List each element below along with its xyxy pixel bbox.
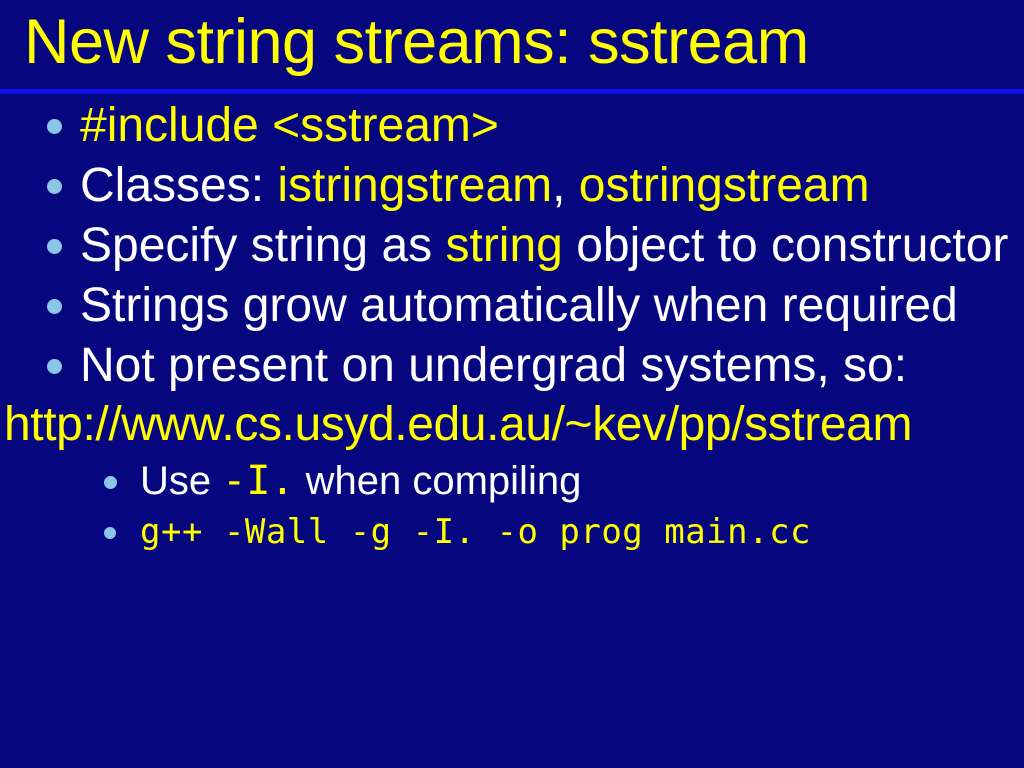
- title-divider: [0, 89, 1024, 94]
- sub-bullet-text: Use -I. when compiling: [140, 459, 581, 503]
- bullet-item: Specify string as string object to const…: [0, 216, 1024, 276]
- page-title: New string streams: sstream: [24, 0, 809, 86]
- slide-canvas: New string streams: sstream #include <ss…: [0, 0, 1024, 768]
- bullet-marker-icon: [47, 179, 62, 194]
- bullet-text: Specify string as string object to const…: [80, 219, 1008, 272]
- bullet-segment-class-istringstream: istringstream: [277, 159, 552, 212]
- bullet-marker-icon: [47, 239, 62, 254]
- slide-body: #include <sstream> Classes: istringstrea…: [0, 96, 1024, 768]
- reference-url[interactable]: http://www.cs.usyd.edu.au/~kev/pp/sstrea…: [0, 396, 1024, 454]
- bullet-item: Not present on undergrad systems, so:: [0, 336, 1024, 396]
- bullet-item: Classes: istringstream, ostringstream: [0, 156, 1024, 216]
- bullet-segment-label: Classes:: [80, 159, 277, 212]
- bullet-segment-code: #include <sstream>: [80, 99, 499, 152]
- bullet-text: Classes: istringstream, ostringstream: [80, 159, 870, 212]
- sub-bullet-segment-tail: when compiling: [295, 459, 582, 503]
- bullet-item: Strings grow automatically when required: [0, 276, 1024, 336]
- bullet-segment-type-string: string: [445, 219, 562, 272]
- sub-bullet-item: Use -I. when compiling: [0, 454, 1024, 508]
- bullet-text: #include <sstream>: [80, 99, 499, 152]
- bullet-marker-icon: [47, 119, 62, 134]
- sub-bullet-segment-lead: Use: [140, 459, 222, 503]
- bullet-segment-tail: object to constructor: [563, 219, 1009, 272]
- bullet-item: #include <sstream>: [0, 96, 1024, 156]
- bullet-text: Strings grow automatically when required: [80, 279, 958, 332]
- bullet-marker-icon: [104, 476, 117, 489]
- compile-command: g++ -Wall -g -I. -o prog main.cc: [140, 512, 811, 552]
- bullet-text: Not present on undergrad systems, so:: [80, 339, 907, 392]
- bullet-segment-separator: ,: [552, 159, 579, 212]
- bullet-segment-lead: Specify string as: [80, 219, 445, 272]
- bullet-marker-icon: [47, 359, 62, 374]
- sub-bullet-segment-flag: -I.: [222, 458, 294, 504]
- bullet-segment-class-ostringstream: ostringstream: [579, 159, 870, 212]
- slide-title-area: New string streams: sstream: [0, 0, 1024, 90]
- bullet-marker-icon: [104, 527, 116, 539]
- sub-bullet-item: g++ -Wall -g -I. -o prog main.cc: [0, 508, 1024, 556]
- bullet-marker-icon: [47, 299, 62, 314]
